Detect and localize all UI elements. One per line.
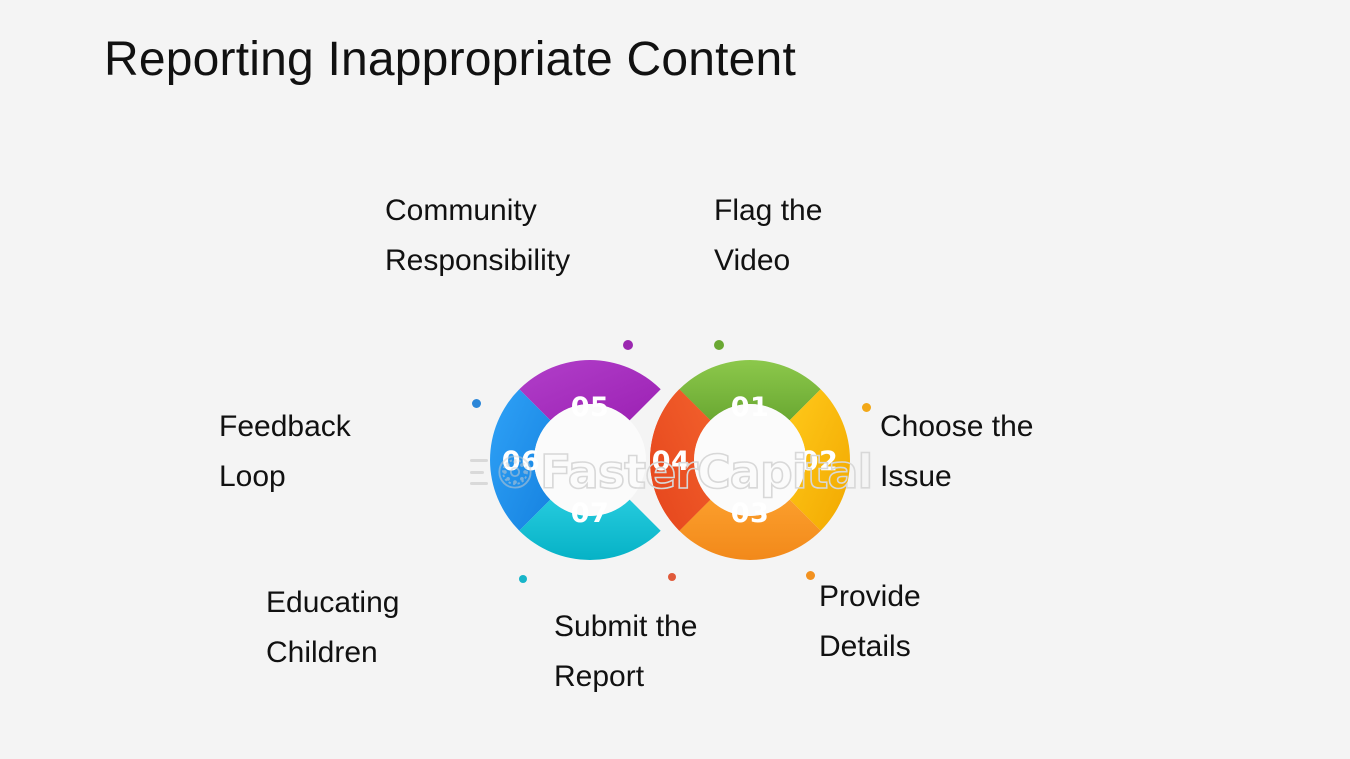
segment-label-01: Flag the Video [714,186,822,286]
segment-number-05: 05 [571,392,610,423]
infinity-cycle-diagram: 05 06 07 01 02 03 04 [455,330,885,590]
segment-number-04: 04 [652,446,691,477]
segment-number-07: 07 [571,498,610,529]
segment-label-05: Community Responsibility [385,186,570,286]
page-title: Reporting Inappropriate Content [104,32,796,87]
segment-label-04: Submit the Report [554,602,697,702]
slide-canvas: Reporting Inappropriate Content Communit… [0,0,1350,759]
segment-label-02: Choose the Issue [880,402,1033,502]
segment-label-06: Feedback Loop [219,402,351,502]
segment-label-07: Educating Children [266,578,399,678]
segment-number-03: 03 [731,498,770,529]
segment-number-02: 02 [800,446,839,477]
segment-number-01: 01 [731,392,770,423]
segment-number-06: 06 [502,446,541,477]
